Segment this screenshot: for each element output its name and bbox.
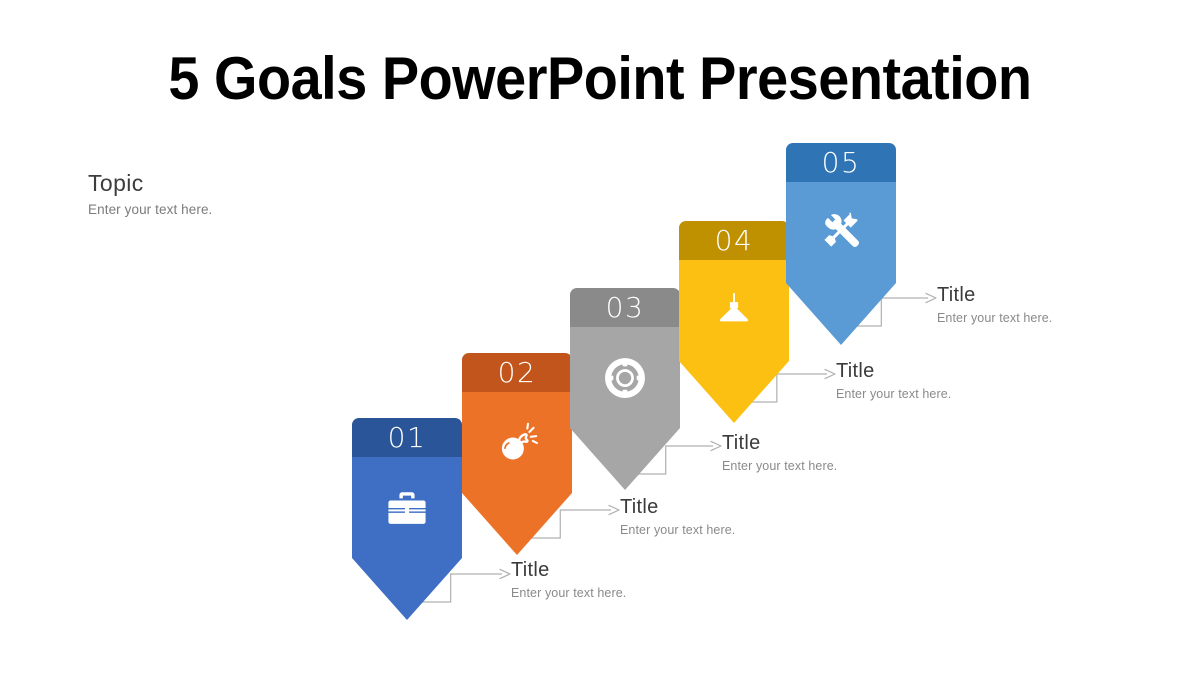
callout-subtitle-03: Enter your text here. [722,458,942,475]
pin-head-01: 01 [352,418,462,457]
callout-title-02: Title [620,495,840,520]
pin-tip-03 [570,428,680,490]
callout-subtitle-01: Enter your text here. [511,585,731,602]
briefcase-icon [352,457,462,558]
pin-body-04 [679,260,789,361]
topic-block: Topic Enter your text here. [88,168,348,219]
tools-icon [786,182,896,283]
pin-shape-01: 01 [352,418,462,620]
lamp-icon [679,260,789,361]
topic-heading: Topic [88,168,348,198]
pin-04[interactable]: 04 [679,221,789,423]
pin-body-02 [462,392,572,493]
pin-tip-05 [786,283,896,345]
callout-subtitle-04: Enter your text here. [836,386,1056,403]
pin-number-04: 04 [679,221,789,260]
callout-subtitle-05: Enter your text here. [937,310,1157,327]
presentation-slide: 5 Goals PowerPoint Presentation Topic En… [0,0,1200,675]
pin-05[interactable]: 05 [786,143,896,345]
pin-head-03: 03 [570,288,680,327]
pin-head-02: 02 [462,353,572,392]
callout-title-03: Title [722,431,942,456]
callout-subtitle-02: Enter your text here. [620,522,840,539]
pin-number-05: 05 [786,143,896,182]
callout-title-05: Title [937,283,1157,308]
pin-tip-04 [679,361,789,423]
callout-05[interactable]: TitleEnter your text here. [937,283,1157,327]
pin-shape-02: 02 [462,353,572,555]
pin-tip-01 [352,558,462,620]
pin-body-03 [570,327,680,428]
pin-03[interactable]: 03 [570,288,680,490]
pin-shape-05: 05 [786,143,896,345]
pin-number-01: 01 [352,418,462,457]
pin-shape-04: 04 [679,221,789,423]
pin-body-01 [352,457,462,558]
pin-shape-03: 03 [570,288,680,490]
topic-subtitle: Enter your text here. [88,201,348,219]
callout-title-04: Title [836,359,1056,384]
callout-03[interactable]: TitleEnter your text here. [722,431,942,475]
lifebuoy-icon [570,327,680,428]
pin-number-02: 02 [462,353,572,392]
pin-01[interactable]: 01 [352,418,462,620]
pin-number-03: 03 [570,288,680,327]
pin-02[interactable]: 02 [462,353,572,555]
pin-body-05 [786,182,896,283]
callout-04[interactable]: TitleEnter your text here. [836,359,1056,403]
callout-01[interactable]: TitleEnter your text here. [511,558,731,602]
pin-head-05: 05 [786,143,896,182]
bomb-icon [462,392,572,493]
pin-head-04: 04 [679,221,789,260]
callout-02[interactable]: TitleEnter your text here. [620,495,840,539]
callout-title-01: Title [511,558,731,583]
page-title: 5 Goals PowerPoint Presentation [42,46,1158,112]
pin-tip-02 [462,493,572,555]
